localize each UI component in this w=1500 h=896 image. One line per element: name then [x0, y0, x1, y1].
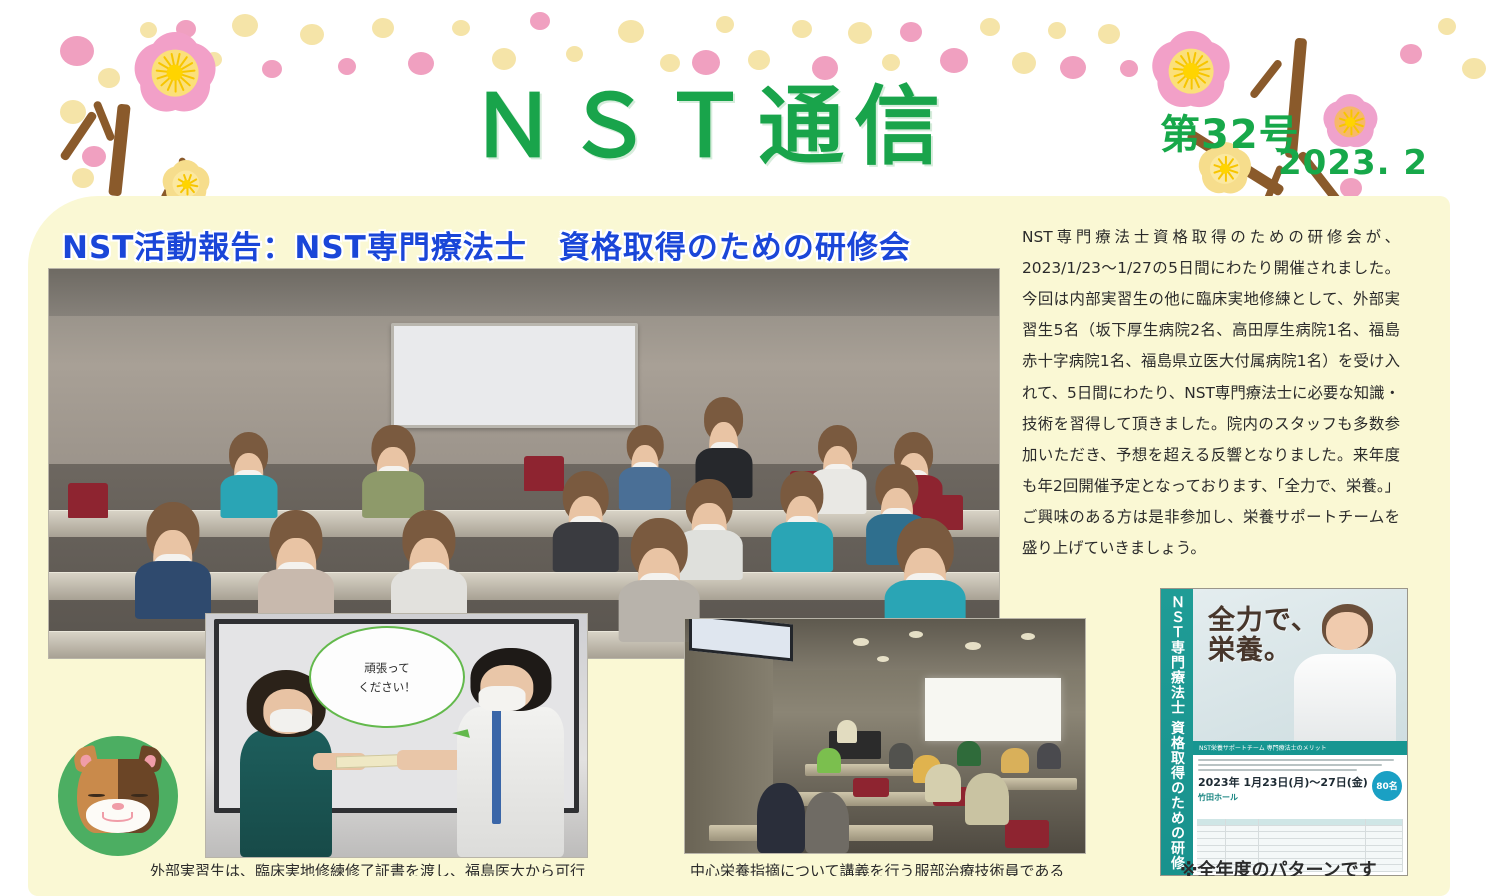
confetti-dot [60, 36, 94, 66]
confetti-dot [618, 20, 644, 43]
confetti-dot [716, 16, 734, 33]
confetti-dot [900, 22, 922, 42]
confetti-dot [1012, 52, 1036, 74]
confetti-dot [262, 60, 282, 78]
section-heading: NST活動報告：NST専門療法士 資格取得のための研修会 [62, 222, 911, 267]
plum-branch [1249, 58, 1284, 99]
poster-headline-line2: 栄養。 [1208, 636, 1319, 666]
confetti-dot [338, 58, 356, 75]
poster-spine-text: ＮＳＴ専門療法士 資格取得のための研修 [1170, 595, 1184, 871]
confetti-dot [1060, 56, 1086, 79]
poster-spine: ＮＳＴ専門療法士 資格取得のための研修 [1161, 589, 1193, 875]
poster-headline-line1: 全力で、 [1208, 606, 1319, 636]
photo-lecture-room [684, 618, 1086, 854]
poster-venue: 竹田ホール [1198, 792, 1402, 803]
confetti-dot [530, 12, 550, 30]
newsletter-title: ＮＳＴ通信 [470, 56, 950, 181]
issue-date: 2023. 2 [1278, 143, 1428, 183]
confetti-dot [232, 14, 258, 37]
confetti-dot [792, 20, 812, 38]
confetti-dot [1048, 22, 1066, 39]
plum-branch [92, 100, 115, 142]
confetti-dot [980, 18, 1000, 36]
confetti-dot [848, 22, 872, 44]
poster-headline: 全力で、 栄養。 [1208, 606, 1319, 666]
calico-cat-mascot-icon [58, 736, 178, 856]
whiteboard [391, 323, 638, 428]
plum-blossom-icon [130, 28, 220, 118]
confetti-dot [1438, 18, 1456, 35]
poster-image: ＮＳＴ専門療法士 資格取得のための研修 全力で、 栄養。 NST栄養サポートチー… [1160, 588, 1408, 876]
confetti-dot [82, 146, 106, 167]
confetti-dot [1120, 60, 1138, 77]
confetti-dot [1400, 44, 1422, 64]
header-banner: ＮＳＴ通信 第32号 2023. 2 [0, 0, 1500, 200]
confetti-dot [1098, 24, 1120, 44]
confetti-dot [72, 168, 94, 188]
confetti-dot [372, 18, 394, 38]
plum-blossom-icon [160, 158, 212, 200]
doctor-figure [457, 648, 564, 857]
poster-bar-text: NST栄養サポートチーム 専門療法士のメリット [1193, 741, 1407, 755]
caption-poster: ※全年度のパターンです [1180, 856, 1430, 876]
article-body: NST専門療法士資格取得のための研修会が、2023/1/23〜1/27の5日間に… [1022, 222, 1400, 564]
confetti-dot [408, 52, 434, 75]
caption-right: 中心栄養指摘について講義を行う服部治療技術員である [690, 860, 1090, 876]
confetti-dot [1462, 58, 1486, 79]
poster-capacity-badge: 80名 [1372, 771, 1402, 801]
speech-bubble-line2: ください！ [358, 679, 416, 695]
confetti-dot [452, 20, 470, 36]
photo-lecture-hall [48, 268, 1000, 659]
plum-branch [108, 104, 131, 197]
speech-bubble: 頑張って ください！ [309, 626, 465, 728]
confetti-dot [300, 24, 324, 45]
projector-screen [925, 678, 1061, 741]
confetti-dot [98, 68, 120, 88]
photo-certificate-handover: 頑張って ください！ [205, 613, 588, 858]
speech-bubble-line1: 頑張って [364, 660, 409, 676]
caption-left: 外部実習生は、臨床実地修練修了証書を渡し、福島医大から可行 [150, 860, 620, 876]
